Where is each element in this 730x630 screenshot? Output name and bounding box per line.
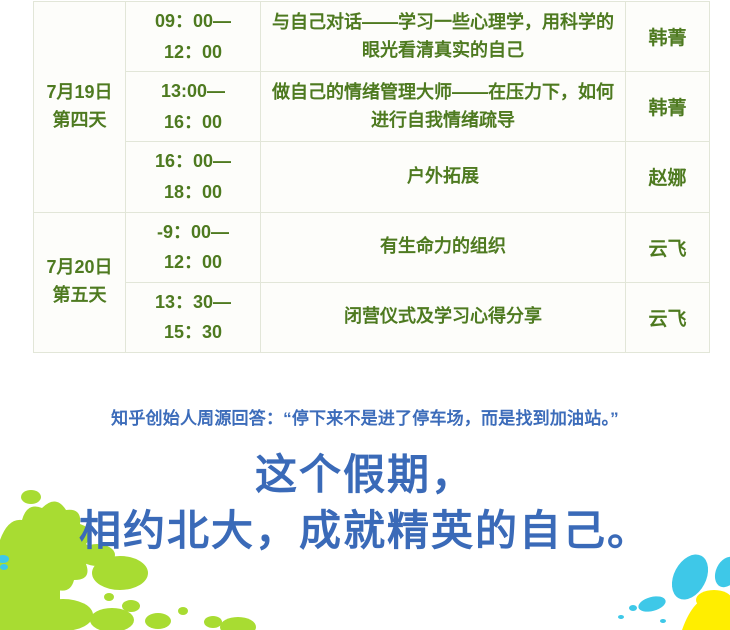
table-row: 13:00—16：00 做自己的情绪管理大师——在压力下，如何进行自我情绪疏导 … xyxy=(34,72,710,142)
schedule-table-container: 7月19日第四天 09：00—12：00 与自己对话——学习一些心理学，用科学的… xyxy=(33,1,709,353)
headline-block: 这个假期， 相约北大，成就精英的自己。 xyxy=(0,452,730,557)
table-row: 7月19日第四天 09：00—12：00 与自己对话——学习一些心理学，用科学的… xyxy=(34,2,710,72)
topic-cell: 户外拓展 xyxy=(261,142,626,212)
time-cell: 16：00—18：00 xyxy=(126,142,261,212)
table-row: 7月20日第五天 -9：00—12：00 有生命力的组织 云飞 xyxy=(34,212,710,282)
speaker-cell: 韩菁 xyxy=(626,72,710,142)
time-cell: -9：00—12：00 xyxy=(126,212,261,282)
topic-cell: 做自己的情绪管理大师——在压力下，如何进行自我情绪疏导 xyxy=(261,72,626,142)
day-label-cell: 7月19日第四天 xyxy=(34,2,126,213)
training-schedule-table: 7月19日第四天 09：00—12：00 与自己对话——学习一些心理学，用科学的… xyxy=(33,1,710,353)
headline-line-2: 相约北大，成就精英的自己。 xyxy=(0,508,730,558)
speaker-cell: 韩菁 xyxy=(626,2,710,72)
splatter-cyan-left xyxy=(0,555,9,570)
day-label-cell: 7月20日第五天 xyxy=(34,212,126,352)
table-row: 13：30—15：30 闭营仪式及学习心得分享 云飞 xyxy=(34,282,710,352)
splatter-yellow-bottom-right xyxy=(682,590,730,630)
topic-cell: 闭营仪式及学习心得分享 xyxy=(261,282,626,352)
quote-text: 知乎创始人周源回答：“停下来不是进了停车场，而是找到加油站。” xyxy=(0,404,730,429)
speaker-cell: 赵娜 xyxy=(626,142,710,212)
speaker-cell: 云飞 xyxy=(626,212,710,282)
topic-cell: 与自己对话——学习一些心理学，用科学的眼光看清真实的自己 xyxy=(261,2,626,72)
topic-cell: 有生命力的组织 xyxy=(261,212,626,282)
time-cell: 13:00—16：00 xyxy=(126,72,261,142)
splatter-cyan-bottom-right xyxy=(618,548,730,623)
speaker-cell: 云飞 xyxy=(626,282,710,352)
time-cell: 09：00—12：00 xyxy=(126,2,261,72)
headline-line-1: 这个假期， xyxy=(0,452,730,502)
time-cell: 13：30—15：30 xyxy=(126,282,261,352)
table-row: 16：00—18：00 户外拓展 赵娜 xyxy=(34,142,710,212)
